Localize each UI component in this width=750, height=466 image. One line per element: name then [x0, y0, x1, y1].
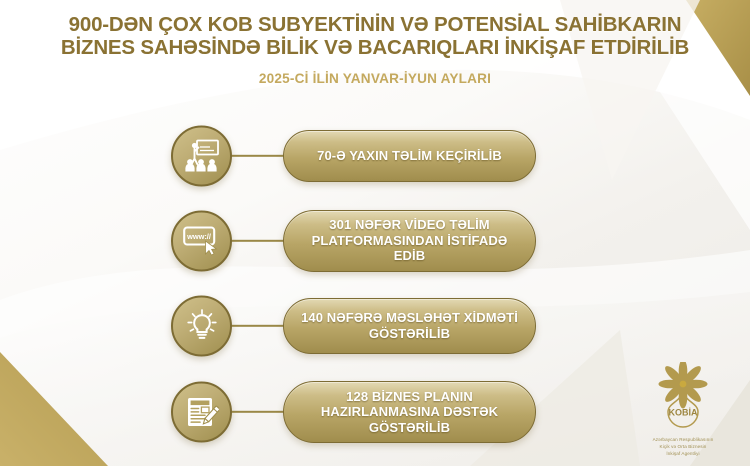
header: 900-DƏN ÇOX KOB SUBYEKTİNİN VƏ POTENSİAL… [0, 14, 750, 86]
statistic-text: 70-Ə YAXIN TƏLİM KEÇİRİLİB [317, 148, 502, 164]
statistic-text: 140 NƏFƏRƏ MƏSLƏHƏT XİDMƏTİ GÖSTƏRİLİB [300, 310, 519, 341]
statistic-pill: 128 BİZNES PLANIN HAZIRLANMASINA DƏSTƏK … [283, 381, 536, 443]
kobia-wordmark: KOBİA [669, 408, 699, 418]
statistic-text: 128 BİZNES PLANIN HAZIRLANMASINA DƏSTƏK … [300, 389, 519, 436]
statistic-pill: 140 NƏFƏRƏ MƏSLƏHƏT XİDMƏTİ GÖSTƏRİLİB [283, 298, 536, 354]
kobia-logo-caption: Azərbaycan Respublikasının Kiçik və Orta… [630, 437, 736, 458]
statistic-text: 301 NƏFƏR VİDEO TƏLİM PLATFORMASINDAN İS… [300, 217, 519, 264]
kobia-flower-icon: KOBİA [650, 362, 716, 434]
statistic-row: 140 NƏFƏRƏ MƏSLƏHƏT XİDMƏTİ GÖSTƏRİLİB [0, 283, 750, 368]
statistic-pill: 301 NƏFƏR VİDEO TƏLİM PLATFORMASINDAN İS… [283, 210, 536, 272]
document-pencil-icon [171, 382, 232, 443]
lightbulb-icon [171, 295, 232, 356]
page-title-line-1: 900-DƏN ÇOX KOB SUBYEKTİNİN VƏ POTENSİAL… [0, 14, 750, 37]
web-browser-cursor-icon: www:// [171, 210, 232, 271]
kobia-logo: KOBİA Azərbaycan Respublikasının Kiçik v… [630, 362, 736, 458]
page-title-line-2: BİZNES SAHƏSİNDƏ BİLİK VƏ BACARIQLARI İN… [0, 37, 750, 60]
svg-text:www://: www:// [186, 232, 211, 241]
statistic-row: www:// 301 NƏFƏR VİDEO TƏLİM PLATFORMASI… [0, 198, 750, 283]
statistic-pill: 70-Ə YAXIN TƏLİM KEÇİRİLİB [283, 130, 536, 182]
statistic-row: 70-Ə YAXIN TƏLİM KEÇİRİLİB [0, 113, 750, 198]
infographic-canvas: 900-DƏN ÇOX KOB SUBYEKTİNİN VƏ POTENSİAL… [0, 0, 750, 466]
training-presentation-icon [171, 125, 232, 186]
page-subtitle: 2025-Cİ İLİN YANVAR-İYUN AYLARI [0, 71, 750, 86]
